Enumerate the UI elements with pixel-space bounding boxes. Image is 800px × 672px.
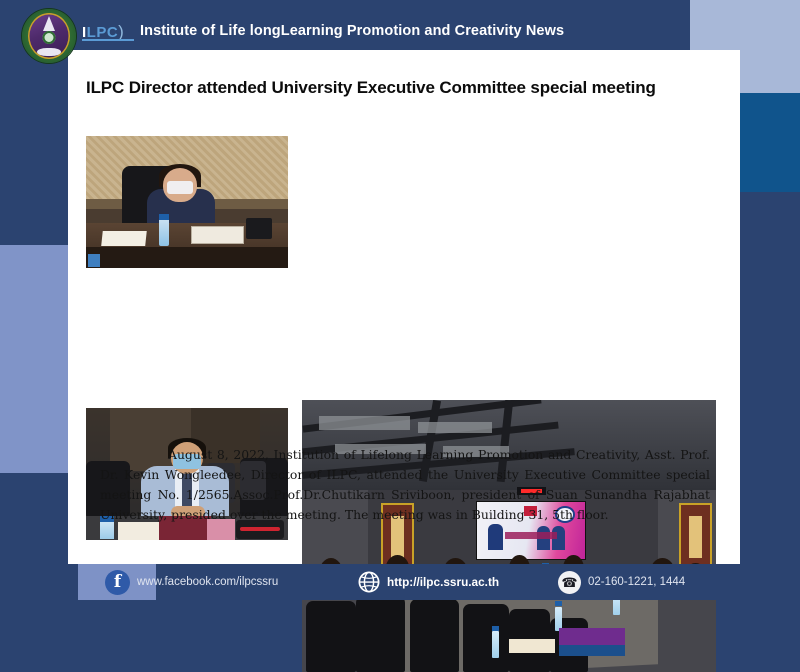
- header-title: Institute of Life longLearning Promotion…: [140, 23, 564, 39]
- footer-facebook-text[interactable]: www.facebook.com/ilpcssru: [137, 576, 278, 588]
- ilpc-wordmark-underline: [82, 39, 134, 41]
- photo-chairwoman-at-meeting-table: [86, 136, 288, 268]
- ssru-emblem-icon: [22, 9, 76, 63]
- phone-icon[interactable]: ☎: [558, 571, 581, 594]
- footer-facebook-link[interactable]: f www.facebook.com/ilpcssru: [105, 564, 278, 600]
- globe-icon[interactable]: [358, 571, 380, 593]
- photo-executive-committee-conference-room: [302, 400, 716, 672]
- ilpc-wordmark: ILPC): [82, 23, 124, 40]
- footer-website-text[interactable]: http://ilpc.ssru.ac.th: [387, 575, 499, 589]
- footer-phone-item[interactable]: ☎ 02-160-1221, 1444: [558, 564, 685, 600]
- slide-canvas: ILPC) Institute of Life longLearning Pro…: [0, 0, 800, 600]
- footer-website-link[interactable]: http://ilpc.ssru.ac.th: [358, 564, 499, 600]
- page-title: ILPC Director attended University Execut…: [86, 78, 726, 98]
- facebook-icon[interactable]: f: [105, 570, 130, 595]
- article-body: August 8, 2022, Institution of Lifelong …: [100, 445, 710, 525]
- footer-phone-text: 02-160-1221, 1444: [588, 576, 685, 588]
- content-card: ILPC Director attended University Execut…: [68, 50, 740, 564]
